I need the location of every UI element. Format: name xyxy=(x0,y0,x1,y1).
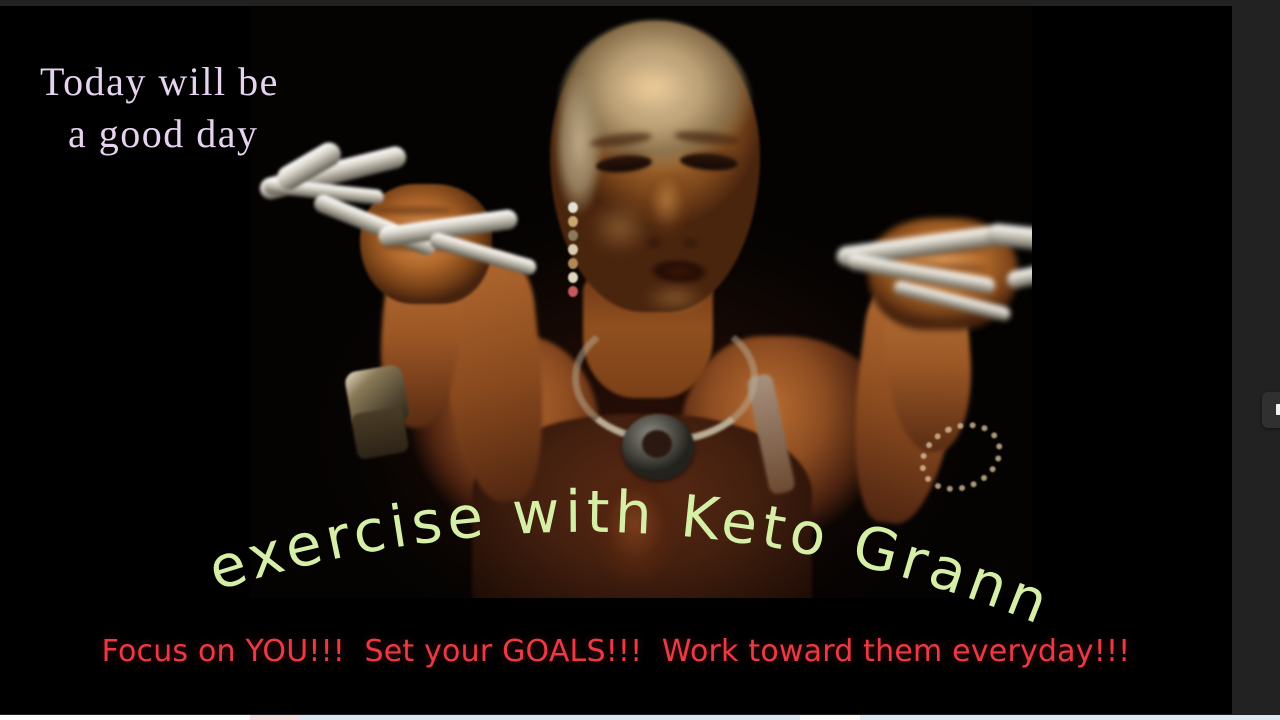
tagline-overlay: Today will be a good day xyxy=(40,6,460,212)
wristwatch-band xyxy=(350,406,409,460)
tagline-line-1: Today will be xyxy=(40,59,279,104)
page-content-sliver xyxy=(0,715,1280,720)
collapse-rail-button[interactable] xyxy=(1262,392,1280,428)
video-player[interactable]: Today will be a good day exercise with K… xyxy=(0,6,1232,714)
tagline-line-2: a good day xyxy=(40,108,460,160)
page-side-rail xyxy=(1232,0,1280,720)
dumbbell-right xyxy=(836,224,1032,334)
forehead-highlight xyxy=(602,56,712,126)
sliver-segment xyxy=(860,715,1280,720)
sliver-segment xyxy=(300,715,800,720)
cheek-highlight xyxy=(580,196,660,266)
sliver-segment xyxy=(800,715,860,720)
earring xyxy=(568,202,578,298)
bottom-caption: Focus on YOU!!! Set your GOALS!!! Work t… xyxy=(0,634,1232,669)
sliver-segment xyxy=(0,715,250,720)
pendant-hole xyxy=(642,430,672,458)
chest-shading xyxy=(580,476,690,596)
sliver-segment xyxy=(250,715,300,720)
nostril-right xyxy=(682,238,698,248)
chevron-right-icon xyxy=(1276,404,1280,415)
screenshot-root: Today will be a good day exercise with K… xyxy=(0,0,1280,720)
